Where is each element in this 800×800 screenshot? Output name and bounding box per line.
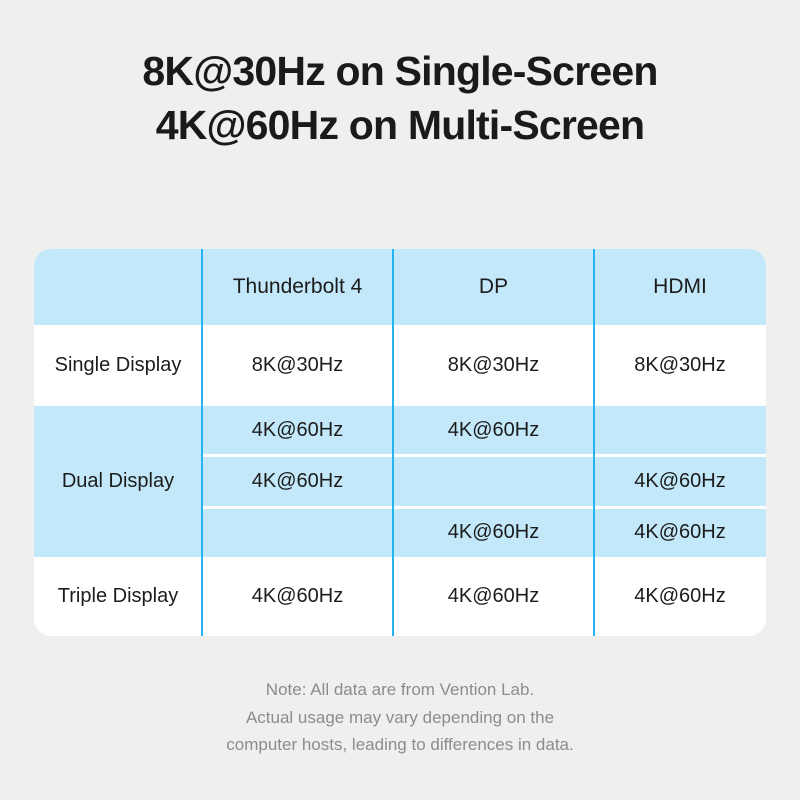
cell-dual1-dp: 4K@60Hz bbox=[393, 406, 594, 454]
cell-single-thunderbolt: 8K@30Hz bbox=[202, 325, 393, 406]
cell-dual1-hdmi bbox=[594, 406, 766, 454]
cell-dual2-thunderbolt: 4K@60Hz bbox=[202, 457, 393, 505]
header-cell-thunderbolt: Thunderbolt 4 bbox=[202, 249, 393, 325]
headline-line-2: 4K@60Hz on Multi-Screen bbox=[0, 98, 800, 152]
table-header-row: Thunderbolt 4 DP HDMI bbox=[34, 249, 766, 325]
footnote: Note: All data are from Vention Lab. Act… bbox=[0, 676, 800, 759]
cell-dual1-thunderbolt: 4K@60Hz bbox=[202, 406, 393, 454]
infographic-page: 8K@30Hz on Single-Screen 4K@60Hz on Mult… bbox=[0, 0, 800, 800]
headline-line-1: 8K@30Hz on Single-Screen bbox=[0, 44, 800, 98]
cell-triple-dp: 4K@60Hz bbox=[393, 557, 594, 636]
table-grid: Thunderbolt 4 DP HDMI Single Display 8K@… bbox=[34, 249, 766, 636]
row-label-single-display: Single Display bbox=[34, 325, 202, 406]
dual-subrow-3: 4K@60Hz 4K@60Hz bbox=[202, 506, 766, 557]
footnote-line-2: Actual usage may vary depending on the bbox=[0, 704, 800, 732]
cell-triple-hdmi: 4K@60Hz bbox=[594, 557, 766, 636]
header-cell-hdmi: HDMI bbox=[594, 249, 766, 325]
row-label-dual-display: Dual Display bbox=[34, 406, 202, 557]
cell-single-dp: 8K@30Hz bbox=[393, 325, 594, 406]
cell-dual3-hdmi: 4K@60Hz bbox=[594, 509, 766, 557]
table-row-single-display: Single Display 8K@30Hz 8K@30Hz 8K@30Hz bbox=[34, 325, 766, 406]
cell-single-hdmi: 8K@30Hz bbox=[594, 325, 766, 406]
header-cell-dp: DP bbox=[393, 249, 594, 325]
cell-dual3-dp: 4K@60Hz bbox=[393, 509, 594, 557]
footnote-line-3: computer hosts, leading to differences i… bbox=[0, 731, 800, 759]
cell-dual2-hdmi: 4K@60Hz bbox=[594, 457, 766, 505]
cell-dual3-thunderbolt bbox=[202, 509, 393, 557]
cell-triple-thunderbolt: 4K@60Hz bbox=[202, 557, 393, 636]
row-label-triple-display: Triple Display bbox=[34, 557, 202, 636]
dual-subrow-2: 4K@60Hz 4K@60Hz bbox=[202, 454, 766, 505]
cell-dual2-dp bbox=[393, 457, 594, 505]
table-row-dual-display: Dual Display 4K@60Hz 4K@60Hz 4K@60Hz 4K@… bbox=[34, 406, 766, 557]
comparison-table: Thunderbolt 4 DP HDMI Single Display 8K@… bbox=[34, 249, 766, 636]
dual-display-subrows: 4K@60Hz 4K@60Hz 4K@60Hz 4K@60Hz 4K@60Hz … bbox=[202, 406, 766, 557]
dual-subrow-1: 4K@60Hz 4K@60Hz bbox=[202, 406, 766, 454]
footnote-line-1: Note: All data are from Vention Lab. bbox=[0, 676, 800, 704]
header-cell-blank bbox=[34, 249, 202, 325]
headline: 8K@30Hz on Single-Screen 4K@60Hz on Mult… bbox=[0, 0, 800, 152]
table-row-triple-display: Triple Display 4K@60Hz 4K@60Hz 4K@60Hz bbox=[34, 557, 766, 636]
